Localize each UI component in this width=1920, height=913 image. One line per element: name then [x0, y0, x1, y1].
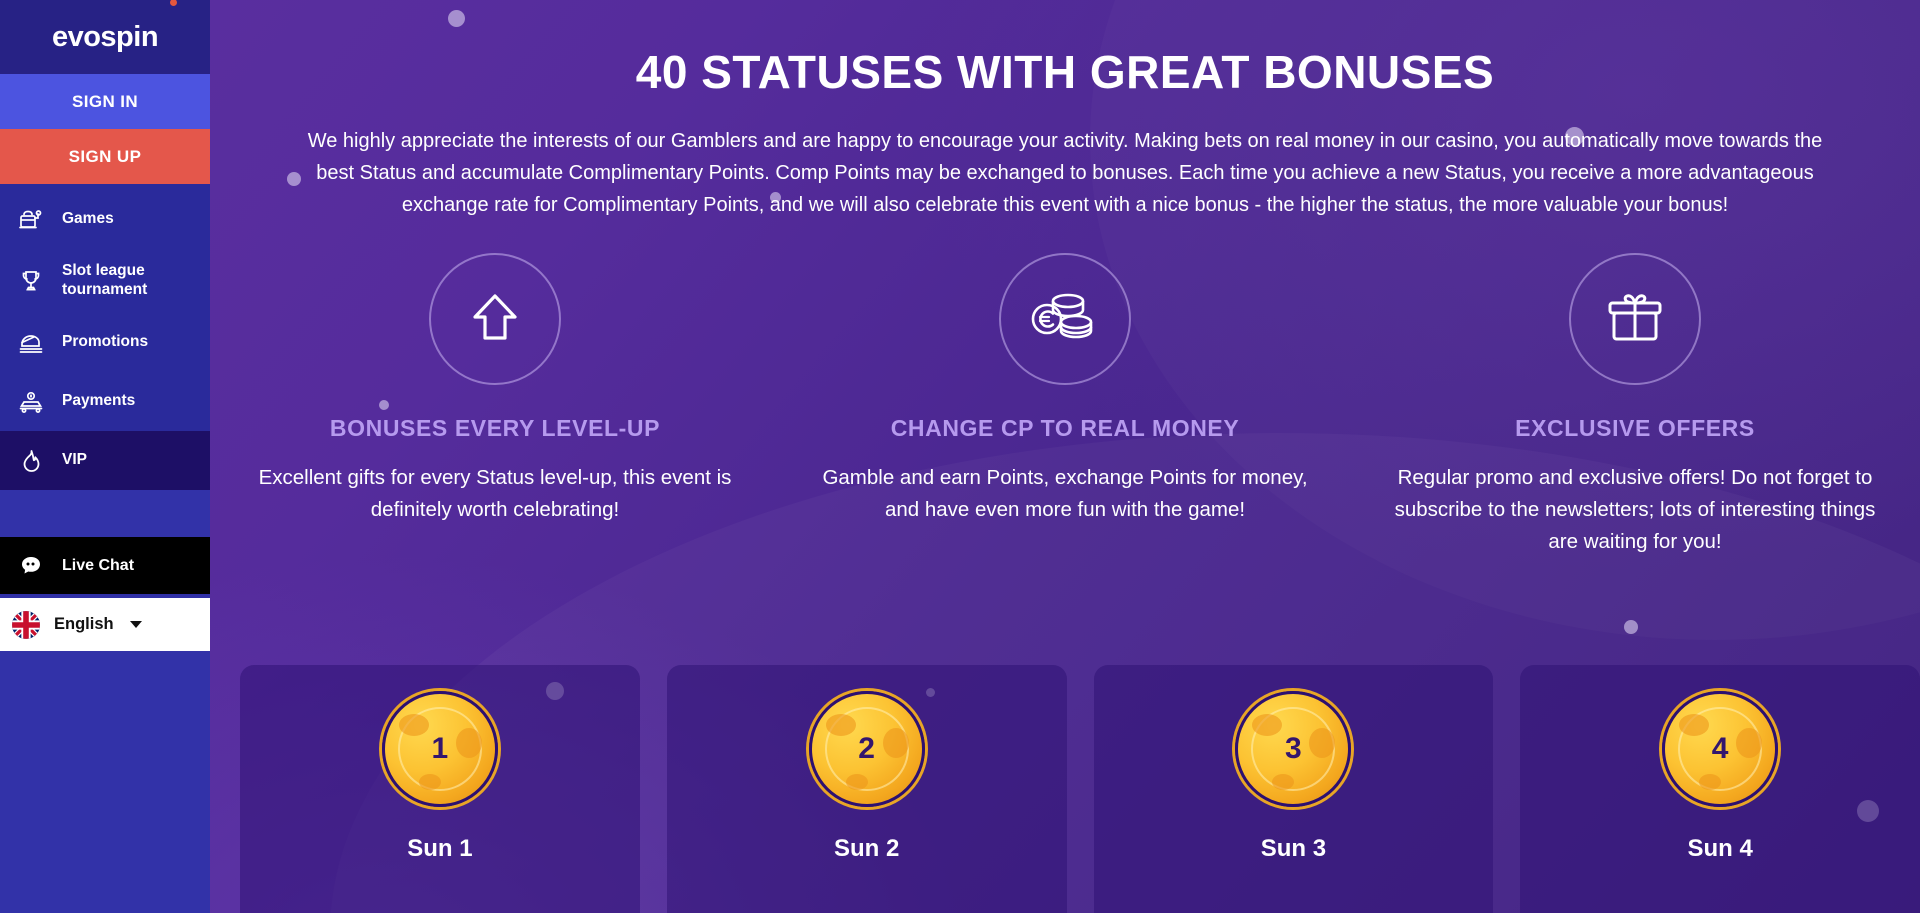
sidebar-spacer — [0, 490, 210, 537]
sidebar-item-vip[interactable]: VIP — [0, 431, 210, 490]
chat-bubble-icon — [16, 551, 46, 581]
sidebar-bottom-fill — [0, 651, 210, 913]
language-label: English — [54, 615, 114, 634]
coin-icon: 1 — [382, 691, 498, 807]
page-root: evospin SIGN IN SIGN UP Games — [0, 0, 1920, 913]
feature-title: BONUSES EVERY LEVEL-UP — [244, 415, 746, 442]
feature-description: Excellent gifts for every Status level-u… — [244, 462, 746, 526]
coin-number: 1 — [432, 732, 449, 766]
sidebar-item-payments[interactable]: Payments — [0, 372, 210, 431]
coin-number: 4 — [1712, 732, 1729, 766]
sidebar-item-promotions[interactable]: Promotions — [0, 313, 210, 372]
sidebar-item-label: Promotions — [62, 333, 148, 352]
language-selector[interactable]: English — [0, 598, 210, 651]
sidebar: evospin SIGN IN SIGN UP Games — [0, 0, 210, 913]
intro-paragraph: We highly appreciate the interests of ou… — [285, 125, 1845, 221]
chevron-down-icon — [130, 621, 142, 628]
status-card[interactable]: 3 Sun 3 — [1094, 665, 1494, 913]
feature-list: BONUSES EVERY LEVEL-UP Excellent gifts f… — [210, 253, 1920, 558]
slot-machine-icon — [16, 205, 46, 235]
gift-icon — [1601, 285, 1669, 354]
status-card[interactable]: 4 Sun 4 — [1520, 665, 1920, 913]
sidebar-item-label: VIP — [62, 451, 87, 470]
live-chat-label: Live Chat — [62, 557, 134, 575]
status-card-label: Sun 4 — [1687, 835, 1752, 863]
sidebar-item-label: Games — [62, 210, 114, 229]
status-card-label: Sun 2 — [834, 835, 899, 863]
status-card[interactable]: 1 Sun 1 — [240, 665, 640, 913]
feature-bonuses-every-level-up: BONUSES EVERY LEVEL-UP Excellent gifts f… — [210, 253, 780, 558]
feature-icon-circle — [999, 253, 1131, 385]
coin-icon: 2 — [809, 691, 925, 807]
coin-icon: 3 — [1235, 691, 1351, 807]
status-card-label: Sun 1 — [407, 835, 472, 863]
coin-number: 2 — [858, 732, 875, 766]
sidebar-item-label: Slot league tournament — [62, 262, 210, 299]
feature-description: Regular promo and exclusive offers! Do n… — [1384, 462, 1886, 558]
bank-icon — [16, 387, 46, 417]
brand-logo-text: evospin — [52, 21, 158, 54]
sidebar-item-slot-league-tournament[interactable]: Slot league tournament — [0, 249, 210, 313]
status-card-label: Sun 3 — [1261, 835, 1326, 863]
main-content: 40 STATUSES WITH GREAT BONUSES We highly… — [210, 0, 1920, 913]
sign-up-button[interactable]: SIGN UP — [0, 129, 210, 184]
trophy-icon — [16, 266, 46, 296]
brand-logo[interactable]: evospin — [0, 0, 210, 74]
feature-exclusive-offers: EXCLUSIVE OFFERS Regular promo and exclu… — [1350, 253, 1920, 558]
live-chat-button[interactable]: Live Chat — [0, 537, 210, 594]
logo-accent-dot — [170, 0, 177, 6]
sidebar-item-games[interactable]: Games — [0, 190, 210, 249]
status-card[interactable]: 2 Sun 2 — [667, 665, 1067, 913]
sign-in-button[interactable]: SIGN IN — [0, 74, 210, 129]
coins-euro-icon — [1030, 286, 1100, 353]
page-title: 40 STATUSES WITH GREAT BONUSES — [210, 45, 1920, 99]
feature-title: CHANGE CP TO REAL MONEY — [814, 415, 1316, 442]
status-card-list: 1 Sun 1 2 Sun 2 3 — [240, 665, 1920, 913]
sidebar-nav: Games Slot league tournament — [0, 184, 210, 537]
flame-icon — [16, 446, 46, 476]
arrow-up-icon — [462, 284, 528, 355]
feature-description: Gamble and earn Points, exchange Points … — [814, 462, 1316, 526]
feature-icon-circle — [429, 253, 561, 385]
coin-number: 3 — [1285, 732, 1302, 766]
sidebar-item-label: Payments — [62, 392, 135, 411]
feature-change-cp-to-real-money: CHANGE CP TO REAL MONEY Gamble and earn … — [780, 253, 1350, 558]
megaphone-icon — [16, 328, 46, 358]
coin-icon: 4 — [1662, 691, 1778, 807]
uk-flag-icon — [12, 611, 40, 639]
feature-title: EXCLUSIVE OFFERS — [1384, 415, 1886, 442]
feature-icon-circle — [1569, 253, 1701, 385]
